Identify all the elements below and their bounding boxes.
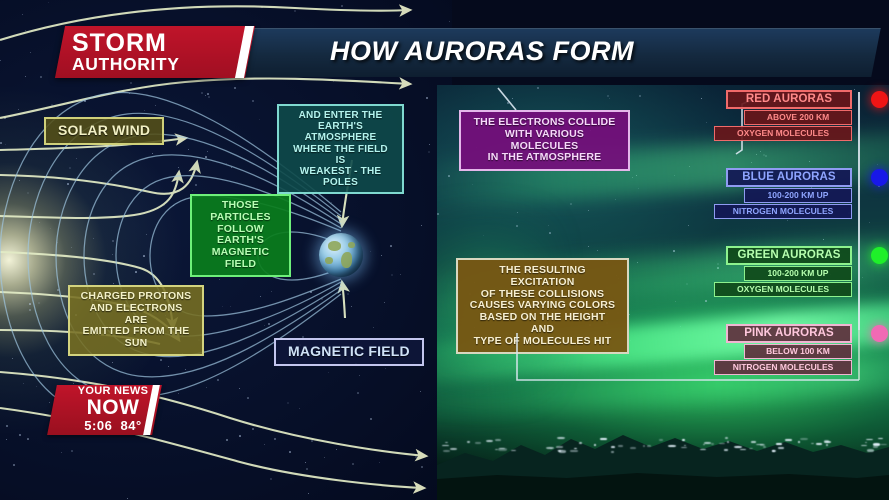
aurora-color-legend: RED AURORASABOVE 200 KMOXYGEN MOLECULESB… xyxy=(726,80,889,410)
callout-electrons-collide: THE ELECTRONS COLLIDE WITH VARIOUS MOLEC… xyxy=(459,110,630,171)
callout-solar-wind: SOLAR WIND xyxy=(44,117,164,145)
page-title: HOW AURORAS FORM xyxy=(330,36,850,70)
news-bug-line2: NOW xyxy=(87,397,140,418)
legend-altitude: BELOW 100 KM xyxy=(744,344,852,359)
news-bug-content: YOUR NEWS NOW 5:06 84° xyxy=(58,385,168,435)
legend-dot xyxy=(871,91,888,108)
legend-title: RED AURORAS xyxy=(726,90,852,109)
legend-title: BLUE AURORAS xyxy=(726,168,852,187)
legend-item-pink-auroras[interactable]: PINK AURORASBELOW 100 KMNITROGEN MOLECUL… xyxy=(726,324,852,375)
logo-line-authority: AUTHORITY xyxy=(72,56,179,74)
legend-molecules: OXYGEN MOLECULES xyxy=(714,282,852,297)
legend-item-blue-auroras[interactable]: BLUE AURORAS100-200 KM UPNITROGEN MOLECU… xyxy=(726,168,852,219)
legend-molecules: NITROGEN MOLECULES xyxy=(714,204,852,219)
callout-enter-atmosphere: AND ENTER THE EARTH'S ATMOSPHERE WHERE T… xyxy=(277,104,404,194)
news-bug-clock-temp: 5:06 84° xyxy=(84,418,141,434)
legend-altitude: 100-200 KM UP xyxy=(744,188,852,203)
broadcast-graphic: SOLAR WIND CHARGED PROTONS AND ELECTRONS… xyxy=(0,0,889,500)
legend-title: GREEN AURORAS xyxy=(726,246,852,265)
callout-charged-protons: CHARGED PROTONS AND ELECTRONS ARE EMITTE… xyxy=(68,285,204,356)
storm-authority-wordmark: STORM AUTHORITY xyxy=(72,28,242,76)
callout-follow-magnetic-field: THOSE PARTICLES FOLLOW EARTH'S MAGNETIC … xyxy=(190,194,291,277)
legend-item-green-auroras[interactable]: GREEN AURORAS100-200 KM UPOXYGEN MOLECUL… xyxy=(726,246,852,297)
earth-globe xyxy=(319,233,363,277)
callout-magnetic-field: MAGNETIC FIELD xyxy=(274,338,424,366)
mountain-silhouette xyxy=(437,405,889,500)
legend-altitude: 100-200 KM UP xyxy=(744,266,852,281)
clock-time: 5:06 xyxy=(84,418,112,433)
legend-altitude: ABOVE 200 KM xyxy=(744,110,852,125)
legend-item-red-auroras[interactable]: RED AURORASABOVE 200 KMOXYGEN MOLECULES xyxy=(726,90,852,141)
legend-dot xyxy=(871,325,888,342)
logo-line-storm: STORM xyxy=(72,31,167,56)
legend-dot xyxy=(871,169,888,186)
legend-dot xyxy=(871,247,888,264)
legend-molecules: NITROGEN MOLECULES xyxy=(714,360,852,375)
temperature-readout: 84° xyxy=(121,418,142,433)
legend-molecules: OXYGEN MOLECULES xyxy=(714,126,852,141)
callout-resulting-excitation: THE RESULTING EXCITATION OF THESE COLLIS… xyxy=(456,258,629,354)
legend-title: PINK AURORAS xyxy=(726,324,852,343)
